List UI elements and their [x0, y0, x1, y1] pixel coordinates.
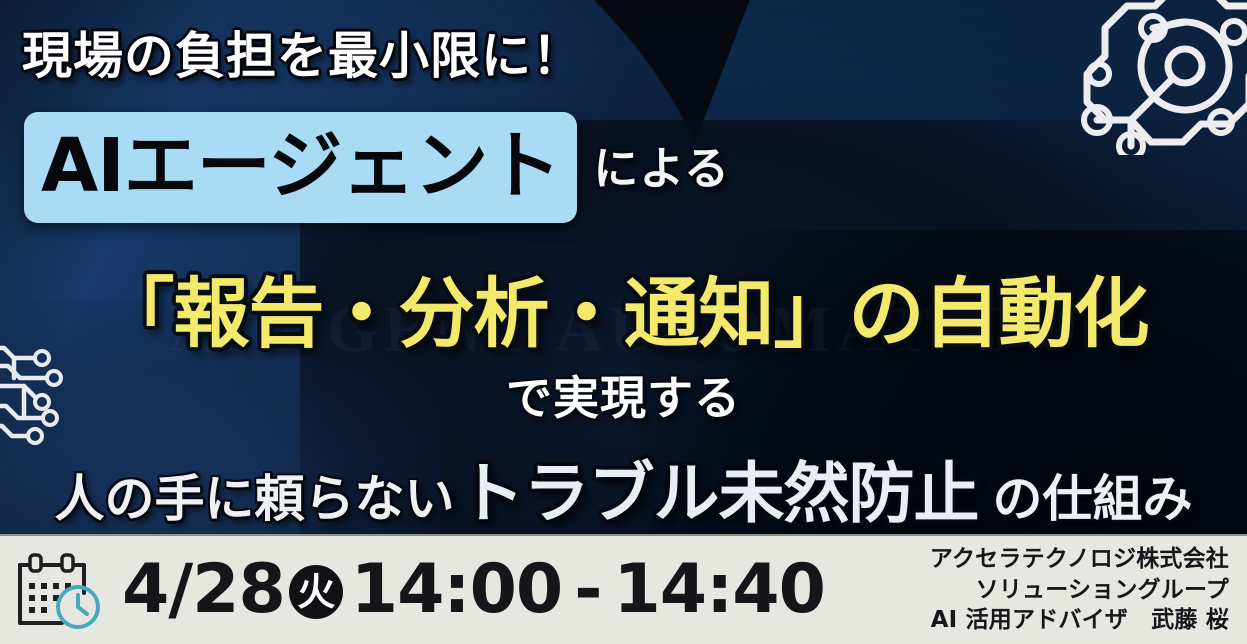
footer-organization: アクセラテクノロジ株式会社 ソリューショングループ AI 活用アドバイザ 武藤 … [930, 544, 1247, 635]
footer-time-start: 14:00 [351, 556, 562, 624]
headline-line-5-emphasis: トラブル未然防止 [455, 440, 983, 536]
webinar-banner: AI AGENT AUTOMATION [0, 0, 1247, 644]
headline-line-2: AIエージェント による [24, 112, 730, 223]
headline-line-4: で実現する [0, 362, 1247, 428]
headline-block: 現場の負担を最小限に！ AIエージェント による 「報告・分析・通知」の自動化 … [0, 0, 1247, 534]
highlight-box-ai-agent: AIエージェント [24, 112, 577, 223]
headline-line-5: 人の手に頼らない トラブル未然防止 の仕組み [0, 440, 1247, 536]
headline-line-3: 「報告・分析・通知」の自動化 [0, 252, 1247, 362]
footer-datetime: 4/28 火 14:00 - 14:40 [104, 556, 930, 624]
headline-line-2-suffix: による [593, 132, 730, 203]
footer-org-line-3: AI 活用アドバイザ 武藤 桜 [930, 605, 1229, 635]
footer-time-separator: - [564, 556, 611, 624]
footer-bar: 4/28 火 14:00 - 14:40 アクセラテクノロジ株式会社 ソリューシ… [0, 534, 1247, 644]
calendar-clock-icon [12, 547, 104, 633]
footer-org-line-2: ソリューショングループ [930, 575, 1229, 605]
headline-line-1: 現場の負担を最小限に！ [22, 16, 583, 88]
footer-weekday-badge: 火 [289, 565, 343, 619]
footer-date: 4/28 [122, 556, 285, 624]
headline-line-5-prefix: 人の手に頼らない [55, 459, 455, 531]
footer-time-end: 14:40 [613, 556, 824, 624]
footer-org-line-1: アクセラテクノロジ株式会社 [930, 544, 1229, 574]
headline-line-5-tail: の仕組み [983, 459, 1193, 531]
